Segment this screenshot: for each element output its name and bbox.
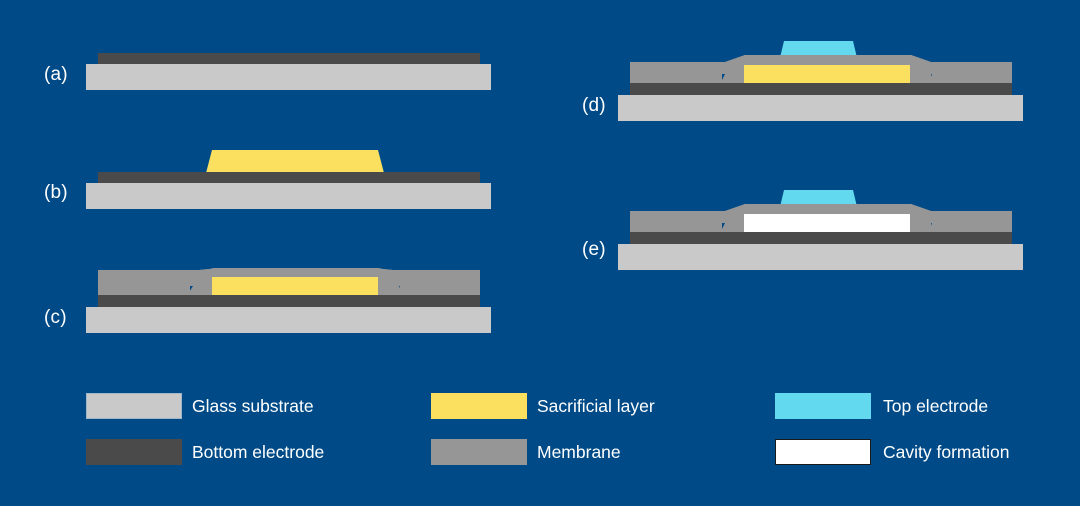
panel-b-graphic — [86, 150, 491, 209]
legend-label-sacrificial-layer: Sacrificial layer — [537, 398, 655, 416]
panel-label-a: (a) — [44, 64, 68, 86]
panel-d-graphic — [618, 41, 1023, 121]
panel-e-glass-substrate — [618, 244, 1023, 270]
panel-e-graphic — [618, 190, 1023, 270]
panel-d-glass-substrate — [618, 95, 1023, 121]
panel-d-membrane-right-shelf — [932, 74, 1012, 83]
panel-b-sacrificial-layer — [206, 150, 384, 173]
legend-label-cavity-formation: Cavity formation — [883, 444, 1009, 462]
legend-swatch-glass-substrate — [86, 393, 182, 419]
legend-swatch-sacrificial-layer — [431, 393, 527, 419]
panel-a-bottom-electrode — [98, 53, 480, 64]
panel-c-sacrificial-layer — [206, 277, 384, 297]
legend-swatch-top-electrode — [775, 393, 871, 419]
legend-swatch-bottom-electrode — [86, 439, 182, 465]
legend-label-bottom-electrode: Bottom electrode — [192, 444, 324, 462]
panel-c-bottom-electrode — [98, 295, 480, 307]
panel-d-bottom-electrode — [630, 83, 1012, 95]
panel-c-membrane-left-shelf — [98, 286, 190, 295]
panel-a-graphic — [86, 53, 491, 90]
panel-a-glass-substrate — [86, 64, 491, 90]
legend-label-glass-substrate: Glass substrate — [192, 398, 314, 416]
legend-label-top-electrode: Top electrode — [883, 398, 988, 416]
panel-b-glass-substrate — [86, 183, 491, 209]
cross-section-drawing — [0, 0, 1080, 506]
panel-label-d: (d) — [582, 95, 606, 117]
legend-swatch-cavity-formation — [775, 439, 871, 465]
panel-c-graphic — [86, 268, 491, 333]
panel-e-membrane-right-shelf — [932, 223, 1012, 232]
panel-label-c: (c) — [44, 307, 67, 329]
panel-b-bottom-electrode — [98, 172, 480, 183]
panel-c-glass-substrate — [86, 307, 491, 333]
panel-e-bottom-electrode — [630, 232, 1012, 244]
legend-swatch-membrane — [431, 439, 527, 465]
panel-e-membrane-left-shelf — [630, 223, 722, 232]
panel-label-b: (b) — [44, 182, 68, 204]
panel-c-membrane-right-shelf — [400, 286, 480, 295]
process-flow-figure: (a) (b) (c) (d) (e) Glass substrate Bott… — [0, 0, 1080, 506]
legend-label-membrane: Membrane — [537, 444, 621, 462]
panel-label-e: (e) — [582, 239, 606, 261]
panel-d-membrane-left-shelf — [630, 74, 722, 83]
